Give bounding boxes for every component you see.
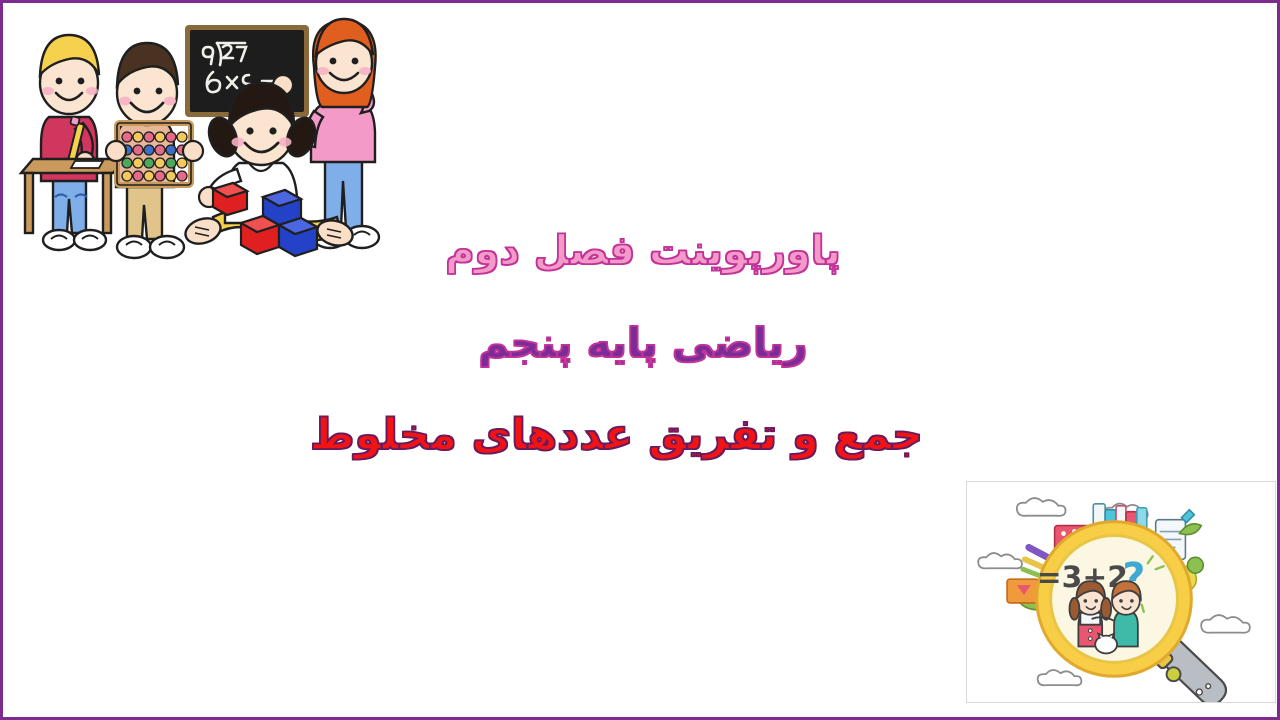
slide-title-block: پاورپوینت فصل دوم ریاضی پایه پنجم جمع و … bbox=[363, 231, 923, 457]
lens-children bbox=[1069, 581, 1140, 653]
title-line-3: جمع و تفریق عددهای مخلوط bbox=[363, 414, 923, 457]
presentation-slide: پاورپوینت فصل دوم ریاضی پایه پنجم جمع و … bbox=[0, 0, 1280, 720]
title-line-2: ریاضی پایه پنجم bbox=[363, 323, 923, 364]
clipart-kids-math-classroom bbox=[17, 11, 409, 279]
title-line-1: پاورپوینت فصل دوم bbox=[363, 231, 923, 271]
magnifier-image-frame: 3+2= ? bbox=[966, 481, 1276, 703]
